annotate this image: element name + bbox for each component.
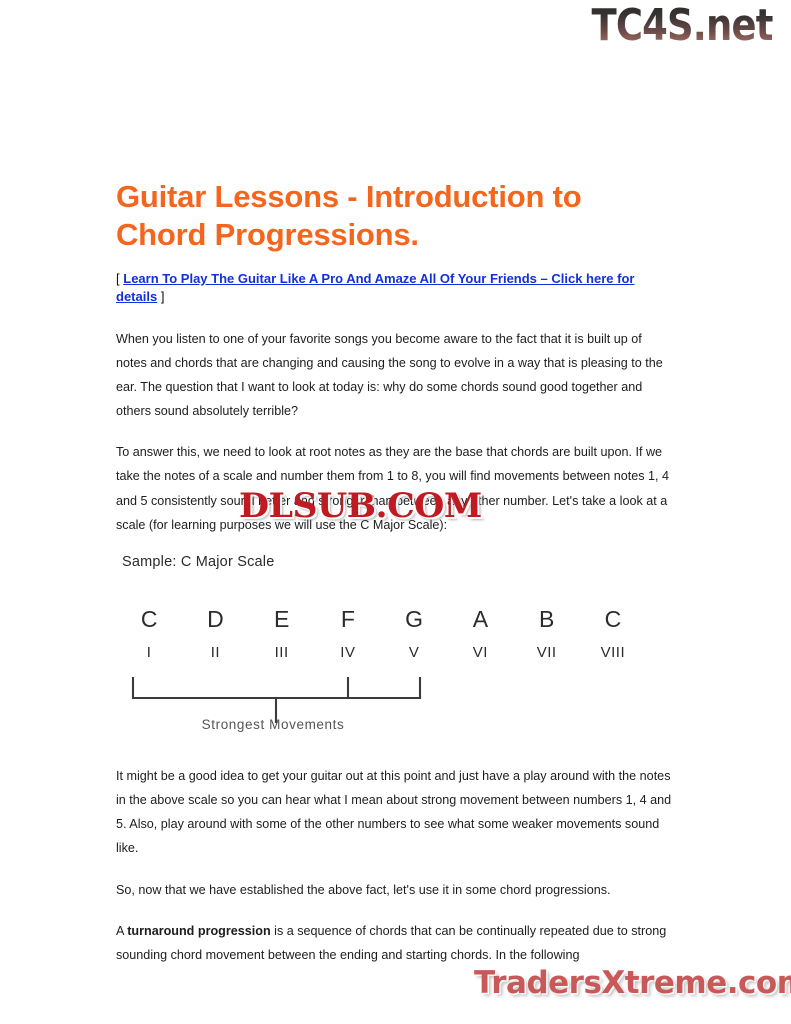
bracket-label: Strongest Movements — [116, 717, 430, 732]
scale-notes-row: C D E F G A B C — [116, 606, 646, 633]
scale-note: C — [580, 606, 646, 633]
scale-note: A — [447, 606, 513, 633]
paragraph-practice: It might be a good idea to get your guit… — [116, 764, 672, 861]
scale-note: F — [315, 606, 381, 633]
scale-numeral: III — [249, 644, 315, 661]
paragraph-turnaround: A turnaround progression is a sequence o… — [116, 919, 672, 967]
scale-numeral: II — [182, 644, 248, 661]
tradersxtreme-watermark-text: TradersXtreme.com — [474, 965, 791, 1001]
page-title: Guitar Lessons - Introduction to Chord P… — [116, 178, 672, 254]
turnaround-lead: A — [116, 924, 127, 938]
article-content: Guitar Lessons - Introduction to Chord P… — [116, 178, 672, 984]
promo-link-line: [ Learn To Play The Guitar Like A Pro An… — [116, 270, 672, 307]
scale-note: G — [381, 606, 447, 633]
c-major-scale-diagram: Sample: C Major Scale C D E F G A B C I … — [116, 554, 672, 744]
scale-note: D — [182, 606, 248, 633]
tradersxtreme-watermark: TradersXtreme.com — [474, 968, 791, 999]
scale-numeral: VII — [514, 644, 580, 661]
scale-numeral: I — [116, 644, 182, 661]
paragraph-transition: So, now that we have established the abo… — [116, 878, 672, 902]
paragraph-root-notes: To answer this, we need to look at root … — [116, 440, 672, 537]
promo-link[interactable]: Learn To Play The Guitar Like A Pro And … — [116, 271, 634, 304]
scale-numerals-row: I II III IV V VI VII VIII — [116, 644, 646, 661]
document-page: TC4S.net Guitar Lessons - Introduction t… — [0, 0, 791, 1024]
diagram-caption: Sample: C Major Scale — [122, 554, 274, 570]
scale-numeral: V — [381, 644, 447, 661]
bracket-open: [ — [116, 271, 120, 286]
turnaround-term: turnaround progression — [127, 924, 270, 938]
paragraph-intro: When you listen to one of your favorite … — [116, 327, 672, 424]
scale-numeral: VI — [447, 644, 513, 661]
scale-note: B — [514, 606, 580, 633]
scale-numeral: VIII — [580, 644, 646, 661]
site-brand-header: TC4S.net — [592, 4, 773, 48]
scale-note: C — [116, 606, 182, 633]
scale-numeral: IV — [315, 644, 381, 661]
scale-note: E — [249, 606, 315, 633]
bracket-close: ] — [161, 289, 165, 304]
